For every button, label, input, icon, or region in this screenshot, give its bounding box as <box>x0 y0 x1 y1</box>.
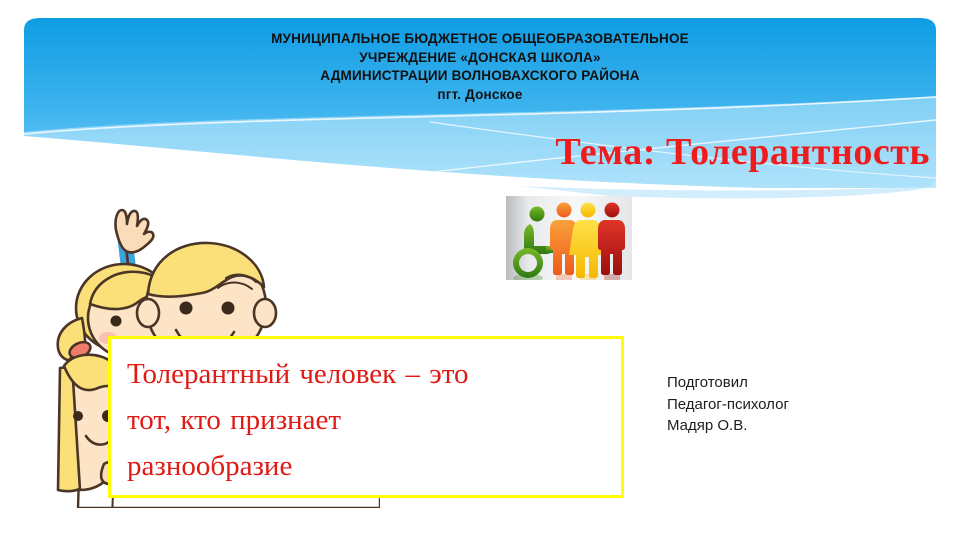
diversity-inclusion-icon <box>506 196 632 280</box>
slide-canvas: МУНИЦИПАЛЬНОЕ БЮДЖЕТНОЕ ОБЩЕОБРАЗОВАТЕЛЬ… <box>0 0 960 540</box>
page-title: Тема: Толерантность <box>0 130 930 174</box>
quote-box: Толерантный человек – это тот, кто призн… <box>108 336 624 498</box>
institution-name: МУНИЦИПАЛЬНОЕ БЮДЖЕТНОЕ ОБЩЕОБРАЗОВАТЕЛЬ… <box>140 30 820 104</box>
author-credit: Подготовил Педагог-психолог Мадяр О.В. <box>667 372 917 437</box>
diversity-icon-graphic <box>506 196 632 280</box>
quote-text: Толерантный человек – это тот, кто призн… <box>127 351 605 489</box>
